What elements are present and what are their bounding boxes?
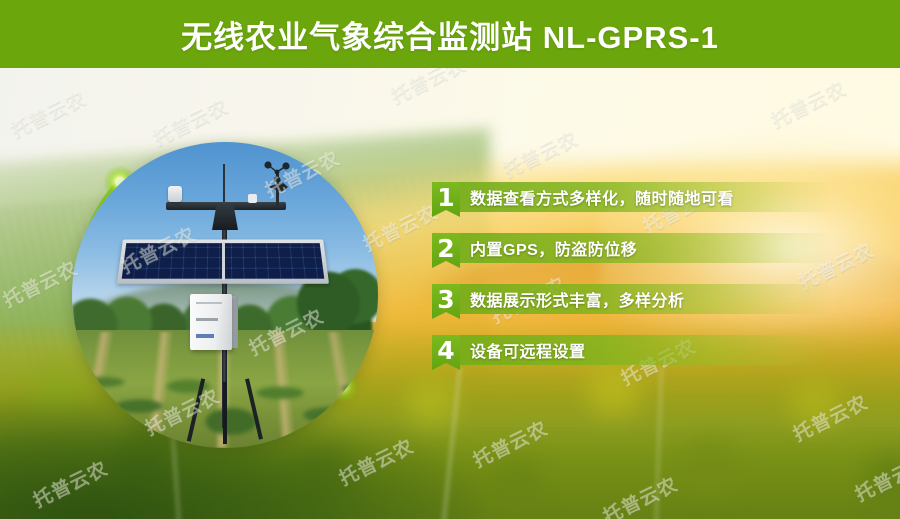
page-title: 无线农业气象综合监测站 NL-GPRS-1 <box>181 12 719 57</box>
control-box-logo-mark <box>196 334 214 338</box>
feature-number-3: 3 <box>437 285 454 315</box>
feature-number-badge-4: 4 <box>432 335 460 370</box>
feature-item-1: 1 数据查看方式多样化，随时随地可看 <box>432 182 832 217</box>
solar-panel-divider <box>222 242 225 279</box>
feature-bar-3: 数据展示形式丰富，多样分析 <box>460 284 832 314</box>
feature-bar-4: 设备可远程设置 <box>460 335 832 365</box>
product-poster: 1 数据查看方式多样化，随时随地可看 2 内置GPS，防盗防位移 3 数据展示形… <box>0 0 900 519</box>
title-banner: 无线农业气象综合监测站 NL-GPRS-1 <box>0 0 900 68</box>
feature-number-2: 2 <box>437 234 454 264</box>
feature-number-badge-1: 1 <box>432 182 460 217</box>
control-box-label-line-1 <box>196 302 222 304</box>
feature-text-1: 数据查看方式多样化，随时随地可看 <box>470 185 734 209</box>
feature-item-4: 4 设备可远程设置 <box>432 335 832 370</box>
secondary-sensor <box>248 194 257 203</box>
feature-number-badge-3: 3 <box>432 284 460 319</box>
feature-item-3: 3 数据展示形式丰富，多样分析 <box>432 284 832 319</box>
weather-station-photo <box>72 142 378 448</box>
feature-number-1: 1 <box>437 183 454 213</box>
tripod-leg-center <box>223 382 227 444</box>
solar-panel <box>117 240 329 284</box>
feature-number-badge-2: 2 <box>432 233 460 268</box>
radiation-shield-sensor <box>168 186 182 202</box>
feature-list: 1 数据查看方式多样化，随时随地可看 2 内置GPS，防盗防位移 3 数据展示形… <box>432 182 832 386</box>
feature-text-4: 设备可远程设置 <box>470 338 586 362</box>
feature-bar-1: 数据查看方式多样化，随时随地可看 <box>460 182 832 212</box>
feature-number-4: 4 <box>437 336 454 366</box>
product-photo-block <box>72 142 378 448</box>
control-box-label-line-2 <box>196 318 218 321</box>
anemometer-icon <box>264 160 290 182</box>
feature-text-2: 内置GPS，防盗防位移 <box>470 236 637 260</box>
feature-bar-2: 内置GPS，防盗防位移 <box>460 233 832 263</box>
feature-item-2: 2 内置GPS，防盗防位移 <box>432 233 832 268</box>
feature-text-3: 数据展示形式丰富，多样分析 <box>470 287 685 311</box>
